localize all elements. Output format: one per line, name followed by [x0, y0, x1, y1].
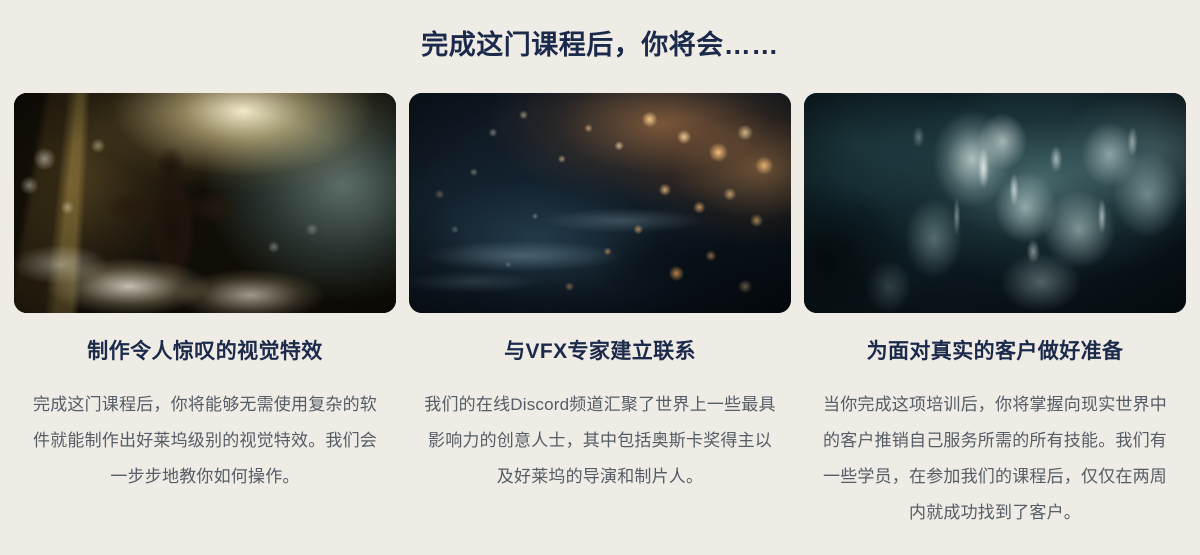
warrior-running-through-water-vfx-image [14, 93, 396, 313]
benefit-card-1: 制作令人惊叹的视觉特效 完成这门课程后，你将能够无需使用复杂的软件就能制作出好莱… [14, 93, 396, 495]
card1-art-vignette [14, 93, 396, 313]
benefit-card-1-title: 制作令人惊叹的视觉特效 [14, 337, 396, 367]
benefit-card-3-title: 为面对真实的客户做好准备 [804, 337, 1186, 367]
benefit-card-2-title: 与VFX专家建立联系 [409, 337, 791, 367]
benefit-card-2: 与VFX专家建立联系 我们的在线Discord频道汇聚了世界上一些最具影响力的创… [409, 93, 791, 495]
golden-particles-nebula-vfx-image [409, 93, 791, 313]
section-title: 完成这门课程后，你将会…… [0, 26, 1200, 64]
benefit-card-2-body: 我们的在线Discord频道汇聚了世界上一些最具影响力的创意人士，其中包括奥斯卡… [420, 387, 780, 495]
card2-art-vignette [409, 93, 791, 313]
benefit-card-3-body: 当你完成这项培训后，你将掌握向现实世界中的客户推销自己服务所需的所有技能。我们有… [815, 387, 1175, 531]
teal-smoke-swirls-vfx-image [804, 93, 1186, 313]
benefit-card-3: 为面对真实的客户做好准备 当你完成这项培训后，你将掌握向现实世界中的客户推销自己… [804, 93, 1186, 531]
benefit-card-1-body: 完成这门课程后，你将能够无需使用复杂的软件就能制作出好莱坞级别的视觉特效。我们会… [25, 387, 385, 495]
card3-art-vignette [804, 93, 1186, 313]
benefit-card-grid: 制作令人惊叹的视觉特效 完成这门课程后，你将能够无需使用复杂的软件就能制作出好莱… [14, 93, 1186, 531]
benefits-section: 完成这门课程后，你将会…… 制作令人惊叹的视觉特效 完成这门课程后，你将能够无需… [0, 0, 1200, 555]
